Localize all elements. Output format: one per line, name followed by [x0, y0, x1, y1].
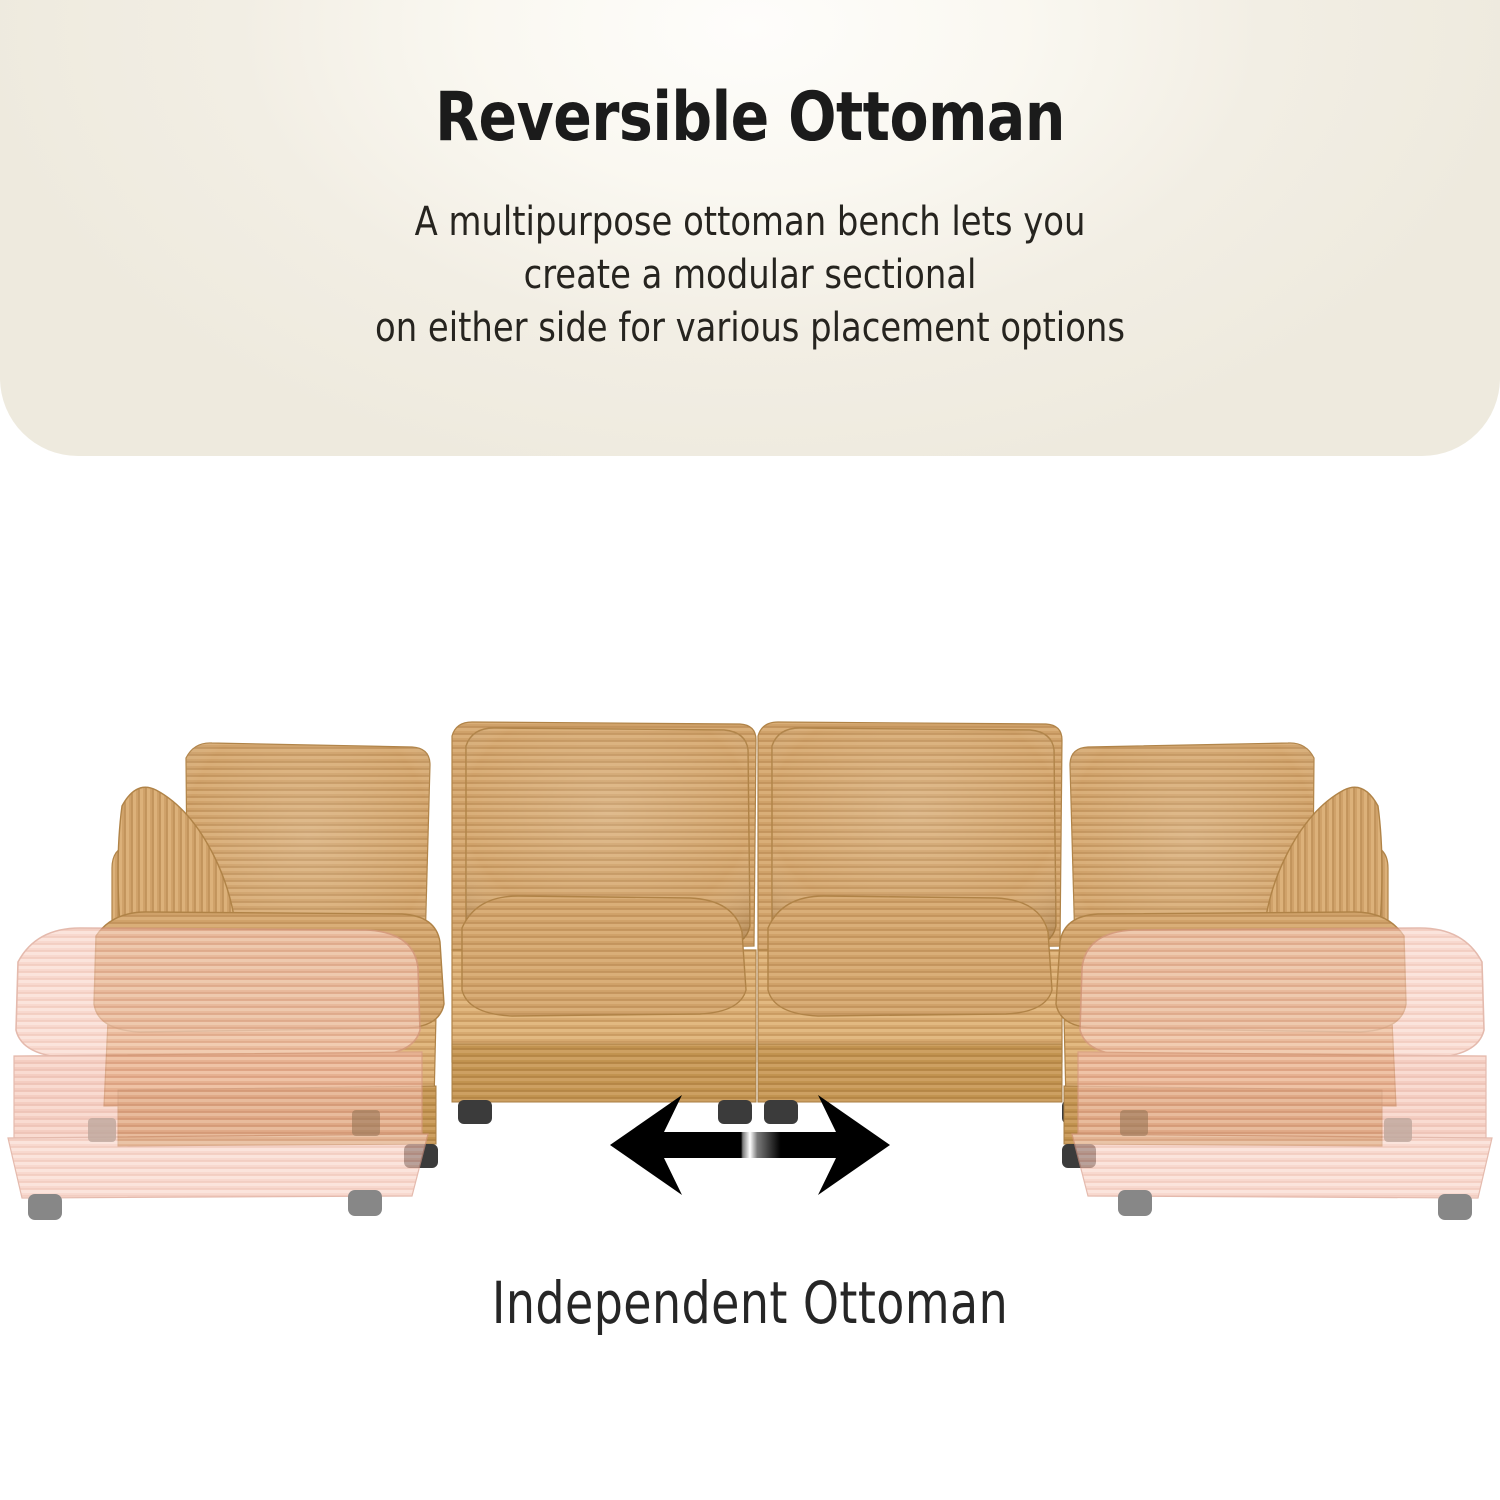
- center2-seat-cushion: [768, 896, 1052, 1016]
- sectional-sofa-illustration: [0, 700, 1500, 1230]
- page-subtitle: A multipurpose ottoman bench lets you cr…: [45, 152, 1455, 354]
- right-ottoman-cushion: [1080, 928, 1484, 1058]
- right-ottoman-base-band: [1072, 1134, 1492, 1198]
- left-ottoman-base-band: [8, 1134, 428, 1198]
- right-ottoman-leg-back: [1118, 1190, 1152, 1216]
- subtitle-line-2: create a modular sectional: [45, 249, 1455, 302]
- product-scene: [0, 700, 1500, 1230]
- arrow-shaft: [660, 1132, 840, 1158]
- center1-seat-cushion: [462, 896, 746, 1016]
- center2-base-band: [758, 1044, 1062, 1102]
- header-text-block: Reversible Ottoman A multipurpose ottoma…: [0, 0, 1500, 354]
- center1-leg-right: [718, 1100, 752, 1124]
- center1-leg-left: [458, 1100, 492, 1124]
- center-seat-module-2: [758, 722, 1096, 1124]
- right-ottoman: [1072, 928, 1492, 1220]
- left-ottoman-post-front: [88, 1118, 116, 1142]
- center1-base-band: [452, 1044, 756, 1102]
- left-ottoman-cushion: [16, 928, 420, 1058]
- page-title: Reversible Ottoman: [53, 0, 1448, 152]
- caption-independent-ottoman: Independent Ottoman: [90, 1272, 1410, 1336]
- left-ottoman: [8, 928, 428, 1220]
- right-ottoman-post-back: [1120, 1110, 1148, 1136]
- header-panel: Reversible Ottoman A multipurpose ottoma…: [0, 0, 1500, 456]
- right-ottoman-post-front: [1384, 1118, 1412, 1142]
- product-marketing-image: Reversible Ottoman A multipurpose ottoma…: [0, 0, 1500, 1500]
- right-ottoman-leg-front: [1438, 1194, 1472, 1220]
- center-seat-module-1: [452, 722, 756, 1124]
- subtitle-line-3: on either side for various placement opt…: [45, 302, 1455, 355]
- subtitle-line-1: A multipurpose ottoman bench lets you: [45, 196, 1455, 249]
- center2-leg-left: [764, 1100, 798, 1124]
- left-ottoman-leg-back: [348, 1190, 382, 1216]
- left-ottoman-post-back: [352, 1110, 380, 1136]
- left-ottoman-leg-front: [28, 1194, 62, 1220]
